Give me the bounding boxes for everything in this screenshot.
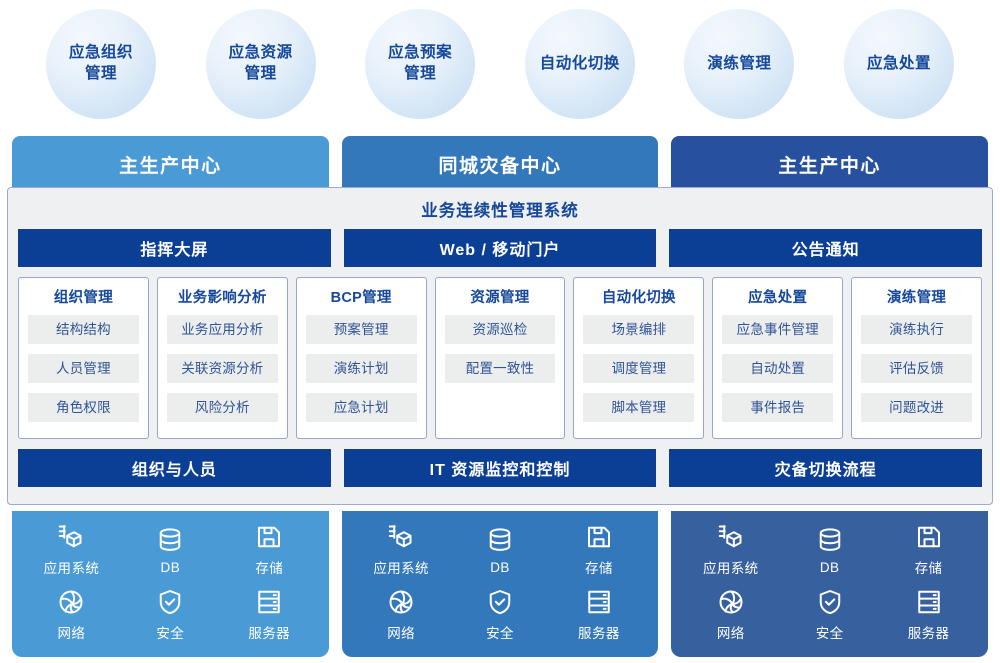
capability-label-line: 管理: [229, 64, 293, 85]
infra-cell-storage[interactable]: 存储: [914, 522, 944, 577]
infra-cell-network[interactable]: 网络: [386, 587, 416, 642]
infra-label: 网络: [58, 622, 86, 642]
bcm-system-title: 业务连续性管理系统: [18, 194, 982, 229]
network-icon: [386, 587, 416, 617]
capability-label-line: 管理: [69, 64, 133, 85]
server-rack-icon: [254, 587, 284, 617]
server-rack-icon: [584, 587, 614, 617]
capability-label-line: 应急资源: [229, 43, 293, 64]
module-item[interactable]: 演练执行: [861, 315, 972, 344]
module-item[interactable]: 脚本管理: [583, 393, 694, 422]
infra-cell-app-system[interactable]: 应用系统: [703, 522, 759, 577]
module-item[interactable]: 结构结构: [28, 315, 139, 344]
infra-cell-security[interactable]: 安全: [485, 587, 515, 642]
infra-cell-security[interactable]: 安全: [155, 587, 185, 642]
storage-icon: [584, 522, 614, 552]
module-card-drill-management: 演练管理 演练执行 评估反馈 问题改进: [851, 277, 982, 439]
infra-cell-database[interactable]: DB: [815, 525, 845, 575]
infra-label: 存储: [585, 557, 613, 577]
module-item[interactable]: 场景编排: [583, 315, 694, 344]
infra-cell-storage[interactable]: 存储: [584, 522, 614, 577]
database-icon: [155, 525, 185, 555]
infra-cell-network[interactable]: 网络: [56, 587, 86, 642]
capability-label-line: 应急组织: [69, 43, 133, 64]
module-item[interactable]: 人员管理: [28, 354, 139, 383]
bcm-bar-it-resource-monitoring[interactable]: IT 资源监控和控制: [344, 449, 657, 487]
module-card-business-impact-analysis: 业务影响分析 业务应用分析 关联资源分析 风险分析: [157, 277, 288, 439]
infrastructure-panel-metro-dr: 应用系统 DB 存储: [342, 511, 659, 657]
network-icon: [716, 587, 746, 617]
database-icon: [815, 525, 845, 555]
capability-bubble-emergency-organization-management[interactable]: 应急组织 管理: [46, 9, 156, 119]
module-item[interactable]: 演练计划: [306, 354, 417, 383]
app-system-icon: [716, 522, 746, 552]
module-title: BCP管理: [306, 286, 417, 307]
infra-cell-database[interactable]: DB: [155, 525, 185, 575]
infra-cell-database[interactable]: DB: [485, 525, 515, 575]
infra-label: 服务器: [908, 622, 950, 642]
infra-cell-app-system[interactable]: 应用系统: [373, 522, 429, 577]
infra-label: 服务器: [578, 622, 620, 642]
module-title: 业务影响分析: [167, 286, 278, 307]
bcm-bar-web-mobile-portal[interactable]: Web / 移动门户: [344, 229, 657, 267]
infra-label: DB: [490, 560, 510, 575]
server-rack-icon: [914, 587, 944, 617]
center-header-metro-dr[interactable]: 同城灾备中心: [342, 136, 659, 192]
infra-label: 安全: [816, 622, 844, 642]
infra-label: 网络: [387, 622, 415, 642]
module-title: 应急处置: [722, 286, 833, 307]
module-item[interactable]: 评估反馈: [861, 354, 972, 383]
module-card-resource-management: 资源管理 资源巡检 配置一致性: [435, 277, 566, 439]
storage-icon: [914, 522, 944, 552]
infra-cell-server[interactable]: 服务器: [578, 587, 620, 642]
bcm-bar-dr-switchover-process[interactable]: 灾备切换流程: [669, 449, 982, 487]
bcm-system-container: 业务连续性管理系统 指挥大屏 Web / 移动门户 公告通知 组织管理 结构结构…: [7, 187, 993, 505]
module-item[interactable]: 应急事件管理: [722, 315, 833, 344]
capability-bubble-emergency-plan-management[interactable]: 应急预案 管理: [365, 9, 475, 119]
capability-label-line: 演练管理: [707, 54, 771, 75]
capability-bubble-row: 应急组织 管理 应急资源 管理 应急预案 管理 自动化切换 演练管理 应急处置: [0, 0, 1000, 128]
security-shield-icon: [155, 587, 185, 617]
module-item[interactable]: 资源巡检: [445, 315, 556, 344]
module-item[interactable]: 角色权限: [28, 393, 139, 422]
capability-bubble-emergency-handling[interactable]: 应急处置: [844, 9, 954, 119]
center-header-primary-production[interactable]: 主生产中心: [12, 136, 329, 192]
infra-label: 网络: [717, 622, 745, 642]
capability-bubble-drill-management[interactable]: 演练管理: [684, 9, 794, 119]
infra-label: 应用系统: [703, 557, 759, 577]
capability-bubble-automated-switchover[interactable]: 自动化切换: [525, 9, 635, 119]
bcm-bottom-bar-row: 组织与人员 IT 资源监控和控制 灾备切换流程: [18, 449, 982, 487]
data-center-header-row: 主生产中心 同城灾备中心 主生产中心: [0, 136, 1000, 192]
module-item[interactable]: 自动处置: [722, 354, 833, 383]
module-title: 自动化切换: [583, 286, 694, 307]
bcm-bar-announcement[interactable]: 公告通知: [669, 229, 982, 267]
module-card-emergency-handling: 应急处置 应急事件管理 自动处置 事件报告: [712, 277, 843, 439]
infra-cell-server[interactable]: 服务器: [248, 587, 290, 642]
capability-label-line: 应急预案: [388, 43, 452, 64]
infra-cell-storage[interactable]: 存储: [254, 522, 284, 577]
module-item[interactable]: 事件报告: [722, 393, 833, 422]
bcm-top-bar-row: 指挥大屏 Web / 移动门户 公告通知: [18, 229, 982, 267]
infra-label: 服务器: [248, 622, 290, 642]
infra-label: 应用系统: [373, 557, 429, 577]
capability-label-line: 应急处置: [867, 54, 931, 75]
infra-label: DB: [820, 560, 840, 575]
app-system-icon: [386, 522, 416, 552]
infrastructure-panel-primary-production: 应用系统 DB 存储: [12, 511, 329, 657]
infra-cell-network[interactable]: 网络: [716, 587, 746, 642]
infra-label: 安全: [156, 622, 184, 642]
capability-label-line: 管理: [388, 64, 452, 85]
bcm-bar-organization-and-personnel[interactable]: 组织与人员: [18, 449, 331, 487]
module-item[interactable]: 调度管理: [583, 354, 694, 383]
infra-label: 应用系统: [44, 557, 100, 577]
infrastructure-panel-primary-production-2: 应用系统 DB 存储: [671, 511, 988, 657]
module-title: 组织管理: [28, 286, 139, 307]
bcm-module-row: 组织管理 结构结构 人员管理 角色权限 业务影响分析 业务应用分析 关联资源分析…: [18, 277, 982, 439]
module-item[interactable]: 关联资源分析: [167, 354, 278, 383]
infra-cell-security[interactable]: 安全: [815, 587, 845, 642]
capability-label-line: 自动化切换: [540, 54, 620, 75]
module-item[interactable]: 问题改进: [861, 393, 972, 422]
module-item[interactable]: 预案管理: [306, 315, 417, 344]
network-icon: [56, 587, 86, 617]
database-icon: [485, 525, 515, 555]
infra-label: 存储: [915, 557, 943, 577]
security-shield-icon: [815, 587, 845, 617]
module-item[interactable]: 风险分析: [167, 393, 278, 422]
infra-label: DB: [161, 560, 181, 575]
app-system-icon: [56, 522, 86, 552]
module-item[interactable]: 配置一致性: [445, 354, 556, 383]
infra-cell-server[interactable]: 服务器: [908, 587, 950, 642]
module-title: 资源管理: [445, 286, 556, 307]
module-card-organization-management: 组织管理 结构结构 人员管理 角色权限: [18, 277, 149, 439]
module-card-automated-switchover: 自动化切换 场景编排 调度管理 脚本管理: [573, 277, 704, 439]
security-shield-icon: [485, 587, 515, 617]
storage-icon: [254, 522, 284, 552]
infrastructure-row: 应用系统 DB 存储: [12, 511, 988, 657]
infra-cell-app-system[interactable]: 应用系统: [44, 522, 100, 577]
center-header-primary-production-2[interactable]: 主生产中心: [671, 136, 988, 192]
infra-label: 存储: [255, 557, 283, 577]
module-card-bcp-management: BCP管理 预案管理 演练计划 应急计划: [296, 277, 427, 439]
infra-label: 安全: [486, 622, 514, 642]
module-item[interactable]: 应急计划: [306, 393, 417, 422]
capability-bubble-emergency-resource-management[interactable]: 应急资源 管理: [206, 9, 316, 119]
module-title: 演练管理: [861, 286, 972, 307]
bcm-bar-command-screen[interactable]: 指挥大屏: [18, 229, 331, 267]
module-item[interactable]: 业务应用分析: [167, 315, 278, 344]
